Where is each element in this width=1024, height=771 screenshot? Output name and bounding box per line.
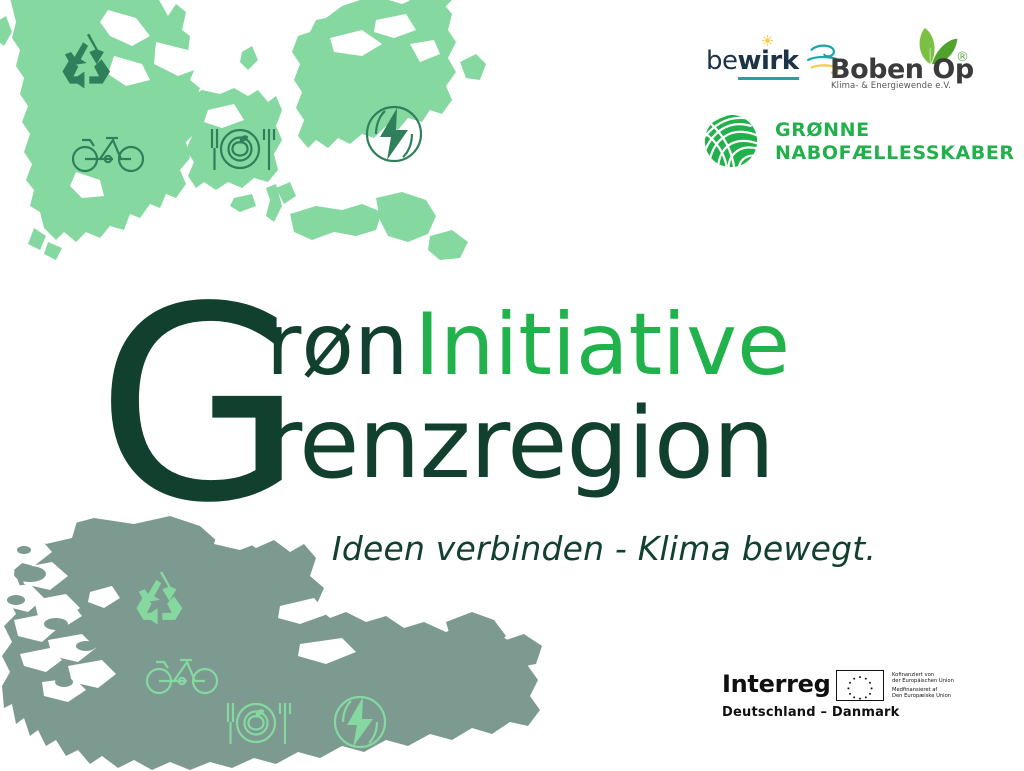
- sun-icon: [762, 35, 773, 46]
- interreg-programme-name: Deutschland – Danmark: [722, 706, 900, 720]
- eu-funding-statement: Kofinanziert von der Europäischen Union …: [892, 672, 954, 700]
- title-initiative: Initiative: [414, 295, 790, 395]
- denmark-icon-recycle: [62, 34, 110, 89]
- eu-flag-icon: [836, 670, 884, 701]
- denmark-landmass: [0, 0, 486, 260]
- sh-icon-lightning: [335, 697, 385, 747]
- gronne-line-one: GRØNNE: [775, 119, 1015, 142]
- boben-op-wordmark: Boben Op: [830, 56, 974, 83]
- title-block: G rønInitiative renzregion Ideen verbind…: [0, 280, 1024, 580]
- denmark-map: [0, 0, 550, 292]
- bewirk-suffix: wirk: [738, 46, 799, 80]
- title-gron: røn: [266, 295, 408, 395]
- bewirk-prefix: be: [706, 46, 738, 76]
- interreg-wordmark: Interreg: [722, 672, 831, 696]
- poster-canvas: G rønInitiative renzregion Ideen verbind…: [0, 0, 1024, 768]
- gronne-wordmark: GRØNNE NABOFÆLLESSKABER: [775, 119, 1015, 165]
- title-line-two: renzregion: [262, 395, 774, 493]
- denmark-icon-lightning: [367, 107, 421, 161]
- eu-funding-de-line2: der Europäischen Union: [892, 678, 954, 684]
- title-line-one: rønInitiative: [266, 302, 790, 388]
- tagline: Ideen verbinden - Klima bewegt.: [0, 529, 1024, 568]
- gronne-line-two: NABOFÆLLESSKABER: [775, 142, 1015, 165]
- denmark-icon-plate-food: [212, 129, 274, 170]
- bewirk-wordmark: bewirk: [706, 48, 799, 74]
- boben-op-logo[interactable]: Boben Op ® Klima- & Energiewende e.V.: [828, 28, 988, 94]
- sh-icon-plate-food: [228, 703, 290, 744]
- interreg-logo[interactable]: Interreg Kofina: [722, 670, 962, 730]
- yarn-ball-icon: [703, 113, 759, 169]
- gronne-nabofaellesskaber-logo[interactable]: GRØNNE NABOFÆLLESSKABER: [703, 113, 983, 171]
- boben-op-subtitle: Klima- & Energiewende e.V.: [831, 81, 951, 91]
- eu-funding-dk-line2: Den Europæiske Union: [892, 693, 954, 699]
- registered-mark-icon: ®: [956, 50, 969, 65]
- partner-logo-row: bewirk: [700, 34, 1000, 96]
- sh-icon-bicycle: [147, 660, 217, 693]
- bewirk-logo[interactable]: bewirk: [706, 42, 846, 74]
- denmark-fjords: [70, 10, 440, 198]
- denmark-icon-bicycle: [73, 138, 143, 171]
